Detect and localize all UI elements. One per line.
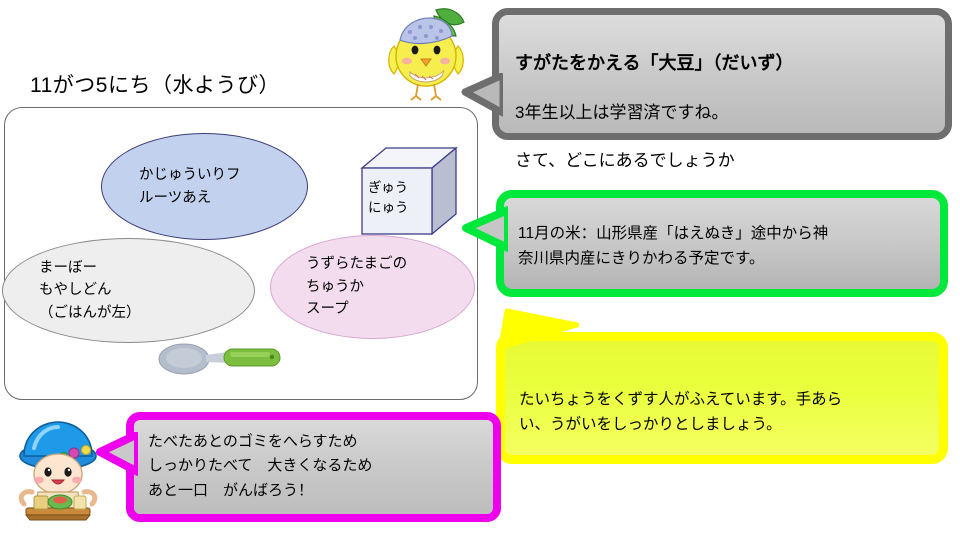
spoon-icon xyxy=(156,338,286,378)
slide-canvas: 11がつ5にち（水ようび） 給食ぱくぱくメモ xyxy=(0,0,960,540)
chef-character-icon xyxy=(12,420,104,524)
milk-carton-label: ぎゅう にゅう xyxy=(368,178,428,217)
menu-item-quail-egg-soup: うずらたまごの ちゅうか スープ xyxy=(270,235,475,339)
callout-reduce-waste: たべたあとのゴミをへらすため しっかりたべて 大きくなるため あと一口 がんばろ… xyxy=(126,412,501,522)
callout-tail-icon xyxy=(456,206,508,254)
callout-health-reminder: たいちょうをくずす人がふえています。手あら い、うがいをしっかりとしましょう。 xyxy=(496,332,948,464)
callout-text: たいちょうをくずす人がふえています。手あら い、うがいをしっかりとしましょう。 xyxy=(505,341,939,438)
callout-soybean-lesson: すがたをかえる「大豆」（だいず） 3年生以上は学習済ですね。 さて、どこにあるで… xyxy=(492,8,952,140)
title-date-line: 11がつ5にち（水ようび） xyxy=(30,71,280,101)
menu-item-label: まーぼー もやしどん （ごはんが左） xyxy=(3,257,141,324)
callout-rice-origin: 11月の米：山形県産「はえぬき」途中から神 奈川県内産にきりかわる予定です。 xyxy=(496,190,948,297)
callout-line-1: すがたをかえる「大豆」（だいず） xyxy=(515,51,945,77)
callout-line-2: 3年生以上は学習済ですね。 xyxy=(515,101,945,125)
callout-line-3: さて、どこにあるでしょうか xyxy=(515,149,945,173)
callout-text: たべたあとのゴミをへらすため しっかりたべて 大きくなるため あと一口 がんばろ… xyxy=(134,420,493,503)
menu-item-label: うずらたまごの ちゅうか スープ xyxy=(271,253,407,320)
milk-carton-icon: ぎゅう にゅう xyxy=(356,142,466,242)
callout-text: すがたをかえる「大豆」（だいず） 3年生以上は学習済ですね。 さて、どこにあるで… xyxy=(499,15,945,197)
menu-item-label: かじゅういりフ ルーツあえ xyxy=(102,164,241,209)
menu-item-mabo-moyashi-don: まーぼー もやしどん （ごはんが左） xyxy=(2,238,255,343)
callout-text: 11月の米：山形県産「はえぬき」途中から神 奈川県内産にきりかわる予定です。 xyxy=(504,198,940,272)
menu-item-fruit-salad: かじゅういりフ ルーツあえ xyxy=(101,133,308,240)
callout-tail-icon xyxy=(92,432,138,476)
callout-tail-icon xyxy=(453,73,503,119)
